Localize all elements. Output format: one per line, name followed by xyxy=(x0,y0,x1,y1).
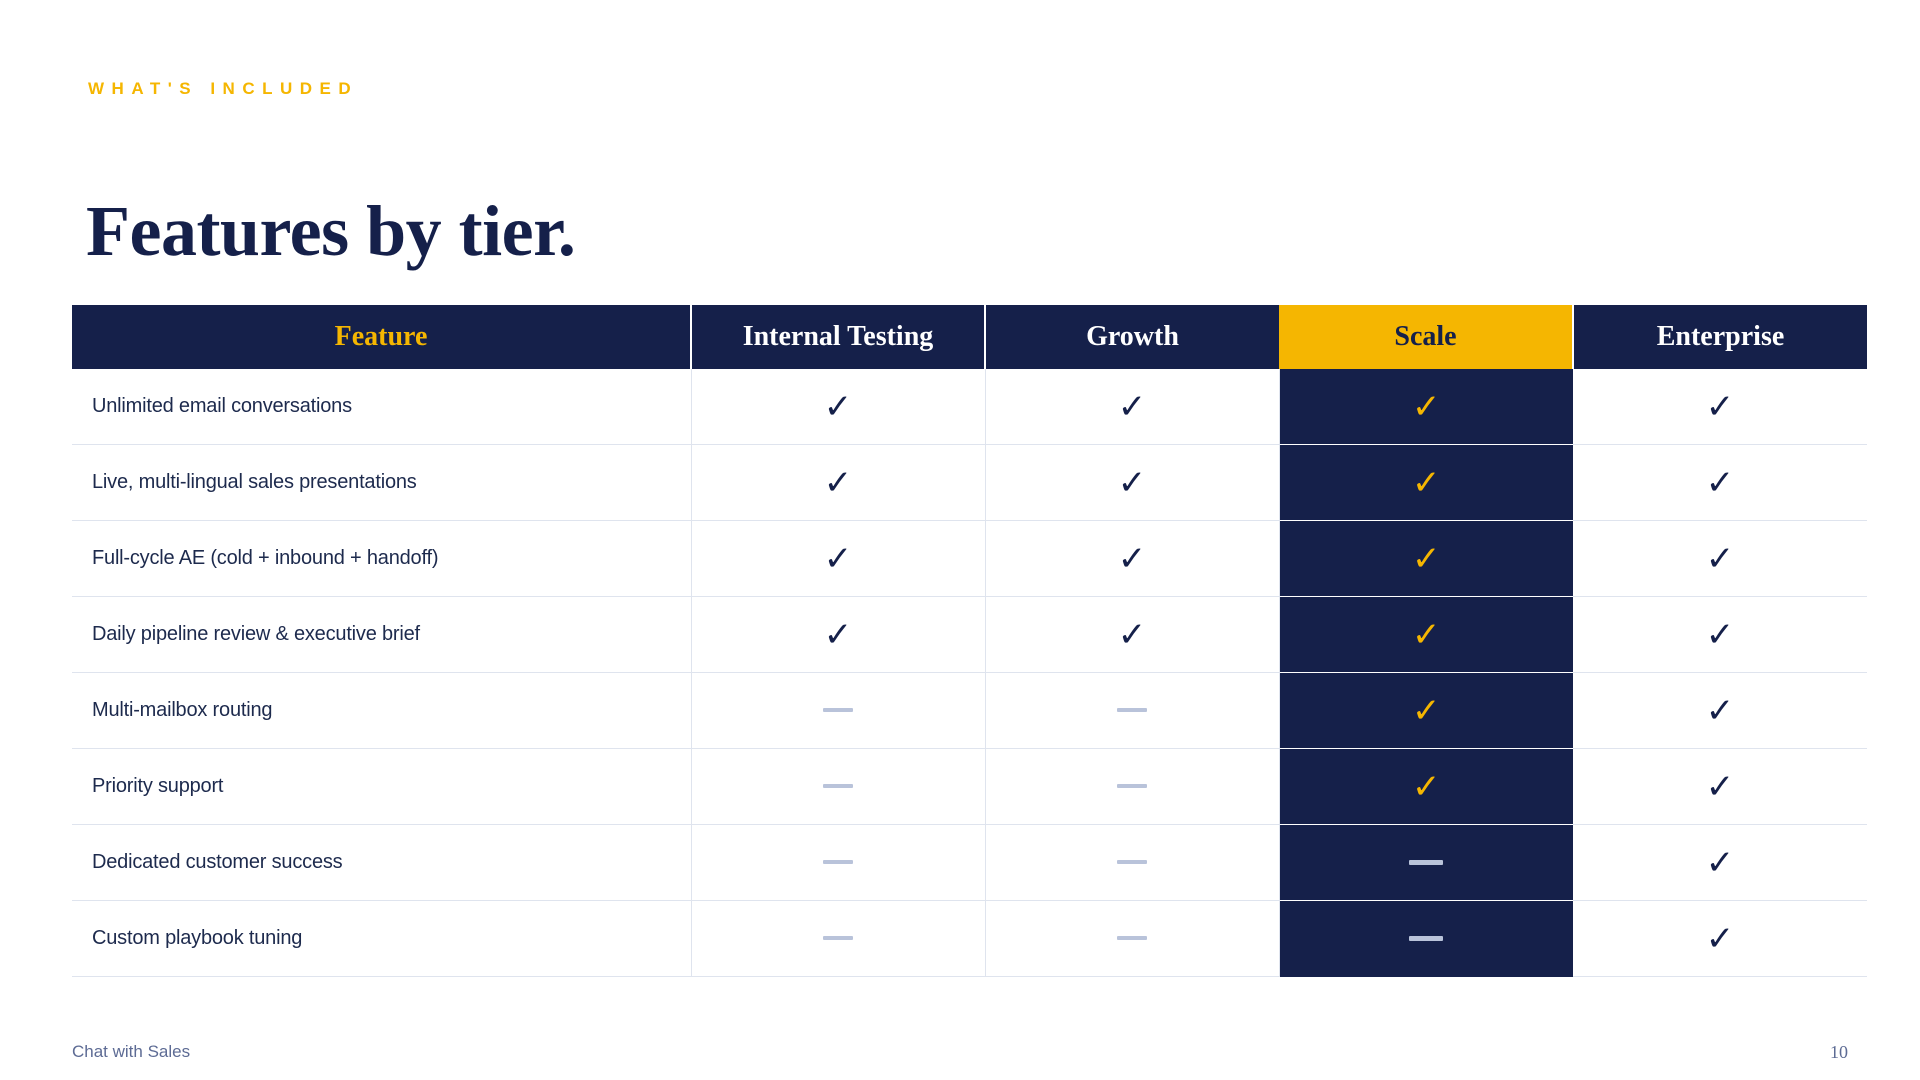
feature-label-cell: Full-cycle AE (cold + inbound + handoff) xyxy=(72,521,691,597)
column-header-scale: Scale xyxy=(1279,305,1573,369)
cell-growth: ✓ xyxy=(985,369,1279,445)
cell-enterprise: ✓ xyxy=(1573,749,1867,825)
features-by-tier-table: FeatureInternal TestingGrowthScaleEnterp… xyxy=(72,305,1867,977)
check-icon: ✓ xyxy=(1706,922,1735,956)
check-icon: ✓ xyxy=(1706,390,1735,424)
cell-scale: ✓ xyxy=(1279,445,1573,521)
dash-icon xyxy=(823,860,853,864)
dash-icon xyxy=(823,936,853,940)
check-icon: ✓ xyxy=(1118,390,1147,424)
page-title: Features by tier. xyxy=(86,195,575,267)
cell-scale: ✓ xyxy=(1279,597,1573,673)
column-header-growth: Growth xyxy=(985,305,1279,369)
cell-scale: ✓ xyxy=(1279,749,1573,825)
cell-growth xyxy=(985,749,1279,825)
cell-scale: ✓ xyxy=(1279,369,1573,445)
check-icon: ✓ xyxy=(1118,618,1147,652)
dash-icon xyxy=(1117,860,1147,864)
check-icon: ✓ xyxy=(1412,542,1441,576)
dash-icon xyxy=(1117,708,1147,712)
slide-root: WHAT'S INCLUDED Features by tier. Featur… xyxy=(0,0,1920,1080)
table-row: Dedicated customer success✓ xyxy=(72,825,1867,901)
check-icon: ✓ xyxy=(824,618,853,652)
check-icon: ✓ xyxy=(1412,466,1441,500)
check-icon: ✓ xyxy=(1118,466,1147,500)
cell-growth: ✓ xyxy=(985,521,1279,597)
footer-page-number: 10 xyxy=(1830,1042,1848,1063)
table-row: Live, multi-lingual sales presentations✓… xyxy=(72,445,1867,521)
feature-label-cell: Live, multi-lingual sales presentations xyxy=(72,445,691,521)
dash-icon xyxy=(1409,936,1443,941)
dash-icon xyxy=(823,708,853,712)
cell-enterprise: ✓ xyxy=(1573,369,1867,445)
cell-growth: ✓ xyxy=(985,445,1279,521)
cell-internal-testing xyxy=(691,749,985,825)
column-header-feature: Feature xyxy=(72,305,691,369)
check-icon: ✓ xyxy=(1706,542,1735,576)
cell-internal-testing xyxy=(691,901,985,977)
check-icon: ✓ xyxy=(1706,770,1735,804)
check-icon: ✓ xyxy=(1706,694,1735,728)
feature-label-cell: Unlimited email conversations xyxy=(72,369,691,445)
dash-icon xyxy=(1409,860,1443,865)
cell-enterprise: ✓ xyxy=(1573,445,1867,521)
dash-icon xyxy=(1117,784,1147,788)
cell-growth: ✓ xyxy=(985,597,1279,673)
cell-growth xyxy=(985,901,1279,977)
feature-label-cell: Custom playbook tuning xyxy=(72,901,691,977)
cell-internal-testing xyxy=(691,825,985,901)
check-icon: ✓ xyxy=(824,466,853,500)
check-icon: ✓ xyxy=(824,542,853,576)
slide-eyebrow: WHAT'S INCLUDED xyxy=(88,79,358,99)
table-row: Unlimited email conversations✓✓✓✓ xyxy=(72,369,1867,445)
column-header-internal-testing: Internal Testing xyxy=(691,305,985,369)
table-row: Priority support✓✓ xyxy=(72,749,1867,825)
check-icon: ✓ xyxy=(1118,542,1147,576)
cell-enterprise: ✓ xyxy=(1573,521,1867,597)
cell-internal-testing: ✓ xyxy=(691,597,985,673)
table-row: Full-cycle AE (cold + inbound + handoff)… xyxy=(72,521,1867,597)
table-row: Custom playbook tuning✓ xyxy=(72,901,1867,977)
dash-icon xyxy=(823,784,853,788)
feature-label-cell: Multi-mailbox routing xyxy=(72,673,691,749)
feature-label-cell: Priority support xyxy=(72,749,691,825)
check-icon: ✓ xyxy=(1412,390,1441,424)
check-icon: ✓ xyxy=(824,390,853,424)
cell-enterprise: ✓ xyxy=(1573,597,1867,673)
cell-scale: ✓ xyxy=(1279,673,1573,749)
cell-scale: ✓ xyxy=(1279,521,1573,597)
cell-scale xyxy=(1279,825,1573,901)
check-icon: ✓ xyxy=(1412,694,1441,728)
check-icon: ✓ xyxy=(1412,618,1441,652)
cell-enterprise: ✓ xyxy=(1573,673,1867,749)
table-row: Multi-mailbox routing✓✓ xyxy=(72,673,1867,749)
check-icon: ✓ xyxy=(1706,618,1735,652)
column-header-enterprise: Enterprise xyxy=(1573,305,1867,369)
table-header-row: FeatureInternal TestingGrowthScaleEnterp… xyxy=(72,305,1867,369)
check-icon: ✓ xyxy=(1412,770,1441,804)
cell-internal-testing: ✓ xyxy=(691,445,985,521)
cell-internal-testing: ✓ xyxy=(691,369,985,445)
table-header: FeatureInternal TestingGrowthScaleEnterp… xyxy=(72,305,1867,369)
cell-scale xyxy=(1279,901,1573,977)
cell-enterprise: ✓ xyxy=(1573,825,1867,901)
cell-internal-testing xyxy=(691,673,985,749)
cell-internal-testing: ✓ xyxy=(691,521,985,597)
cell-growth xyxy=(985,825,1279,901)
feature-label-cell: Dedicated customer success xyxy=(72,825,691,901)
check-icon: ✓ xyxy=(1706,846,1735,880)
table-row: Daily pipeline review & executive brief✓… xyxy=(72,597,1867,673)
footer-chat-with-sales-link[interactable]: Chat with Sales xyxy=(72,1042,190,1062)
cell-enterprise: ✓ xyxy=(1573,901,1867,977)
feature-label-cell: Daily pipeline review & executive brief xyxy=(72,597,691,673)
check-icon: ✓ xyxy=(1706,466,1735,500)
dash-icon xyxy=(1117,936,1147,940)
table-body: Unlimited email conversations✓✓✓✓Live, m… xyxy=(72,369,1867,977)
cell-growth xyxy=(985,673,1279,749)
